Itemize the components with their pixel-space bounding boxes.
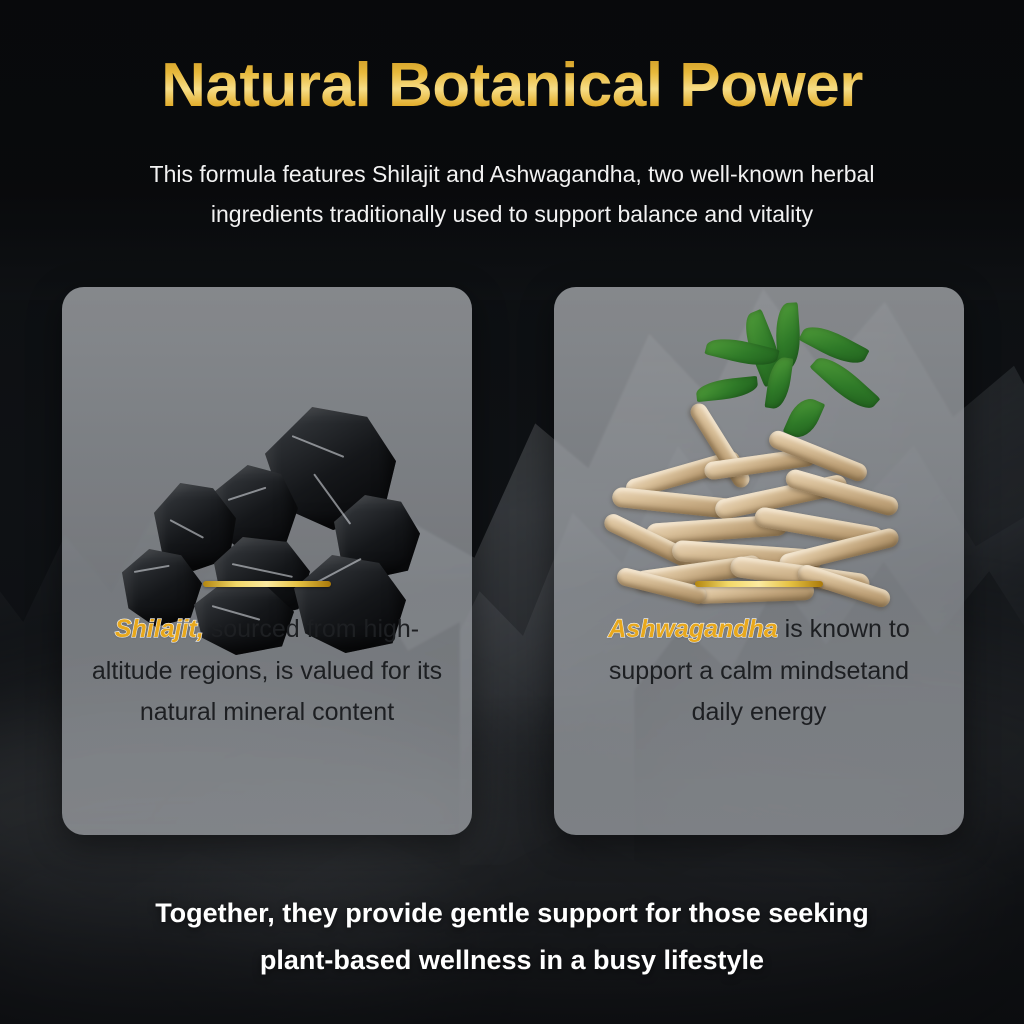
ingredient-card-ashwagandha[interactable]: Ashwagandha is known to support a calm m… [554, 287, 964, 835]
page-content: Natural Botanical Power This formula fea… [0, 0, 1024, 1024]
footer-message: Together, they provide gentle support fo… [70, 890, 954, 985]
ashwagandha-description: Ashwagandha is known to support a calm m… [580, 609, 938, 734]
footer-line-1: Together, they provide gentle support fo… [155, 898, 869, 928]
footer-line-2: plant-based wellness in a busy lifestyle [260, 945, 764, 975]
page-subtitle: This formula features Shilajit and Ashwa… [96, 155, 928, 234]
shilajit-highlight: Shilajit, [115, 615, 204, 643]
page-subtitle-line-2: ingredients traditionally used to suppor… [211, 201, 813, 227]
gold-divider [695, 581, 823, 587]
page-subtitle-line-1: This formula features Shilajit and Ashwa… [150, 161, 875, 187]
ingredient-card-shilajit[interactable]: Shilajit, sourced from high-altitude reg… [62, 287, 472, 835]
page-title: Natural Botanical Power [0, 50, 1024, 121]
leaf-shape [695, 376, 759, 402]
ashwagandha-highlight: Ashwagandha [608, 615, 777, 643]
ingredient-card-list: Shilajit, sourced from high-altitude reg… [62, 287, 964, 835]
ashwagandha-roots-image [554, 287, 964, 587]
root-pile-illustration [554, 287, 964, 587]
shilajit-rocks-image [62, 287, 472, 587]
gold-divider [203, 581, 331, 587]
shilajit-description: Shilajit, sourced from high-altitude reg… [88, 609, 446, 734]
rock-pile-illustration [62, 287, 472, 587]
